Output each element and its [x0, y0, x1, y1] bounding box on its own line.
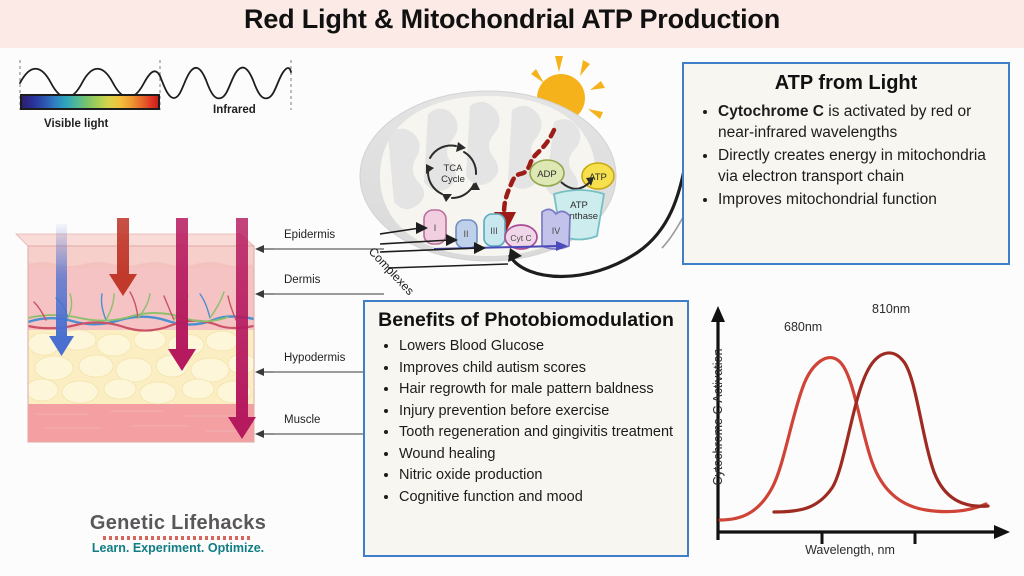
mitochondria-diagram: TCA Cycle ADP ATP ATP synthase: [358, 56, 688, 301]
logo-tagline: Learn. Experiment. Optimize.: [78, 541, 278, 555]
atp-panel-bullet-1: Directly creates energy in mitochondria …: [718, 145, 998, 187]
benefits-list: Lowers Blood Glucose Improves child auti…: [365, 336, 687, 507]
chart-series-680nm: [720, 358, 986, 520]
cytochrome-activation-chart: 680nm 810nm Wavelength, nm Cytochrome C …: [700, 292, 1024, 576]
logo-name: Genetic Lifehacks: [78, 512, 278, 535]
skin-layer-label-epidermis: Epidermis: [284, 229, 335, 241]
infrared-label: Infrared: [213, 104, 256, 116]
visible-spectrum-bar: [20, 94, 160, 110]
skin-layer-label-muscle: Muscle: [284, 414, 320, 426]
benefits-list-item: Wound healing: [399, 444, 677, 465]
atp-bullet-0-bold: Cytochrome C: [718, 103, 824, 120]
skin-cross-section-diagram: [14, 218, 274, 448]
benefits-list-item: Cognitive function and mood: [399, 487, 677, 508]
benefits-list-item: Improves child autism scores: [399, 358, 677, 379]
svg-text:IV: IV: [552, 226, 561, 236]
cytochrome-c: Cyt C: [505, 225, 537, 249]
chart-y-axis-arrow: [711, 306, 725, 322]
svg-text:II: II: [463, 229, 468, 239]
page-title: Red Light & Mitochondrial ATP Production: [0, 4, 1024, 35]
adp-molecule: ADP: [530, 160, 564, 186]
benefits-panel: Benefits of Photobiomodulation Lowers Bl…: [363, 300, 689, 557]
svg-text:I: I: [434, 223, 437, 233]
visible-light-label: Visible light: [44, 118, 108, 130]
skin-layer-label-hypodermis: Hypodermis: [284, 352, 345, 364]
complex-III: III: [484, 214, 505, 246]
benefits-list-item: Lowers Blood Glucose: [399, 336, 677, 357]
atp-panel-title: ATP from Light: [684, 72, 1008, 95]
skin-layer-label-dermis: Dermis: [284, 274, 320, 286]
benefits-list-item: Tooth regeneration and gingivitis treatm…: [399, 422, 677, 443]
light-spectrum-diagram: Visible light Infrared: [8, 58, 298, 138]
chart-annotation-680nm: 680nm: [784, 320, 822, 334]
benefits-list-item: Nitric oxide production: [399, 465, 677, 486]
infographic-root: Red Light & Mitochondrial ATP Production…: [0, 0, 1024, 576]
tca-label-line2: Cycle: [441, 174, 465, 185]
complexes-label: Complexes: [366, 244, 417, 297]
benefits-list-item: Hair regrowth for male pattern baldness: [399, 379, 677, 400]
brand-logo: Genetic Lifehacks Learn. Experiment. Opt…: [78, 512, 278, 555]
chart-x-axis-arrow: [994, 525, 1010, 539]
atp-panel-bullet-2: Improves mitochondrial function: [718, 189, 998, 210]
chart-annotation-810nm: 810nm: [872, 302, 910, 316]
atp-from-light-panel: ATP from Light Cytochrome C is activated…: [682, 62, 1010, 265]
atp-panel-bullet-0: Cytochrome C is activated by red or near…: [718, 101, 998, 143]
chart-y-axis-label: Cytochrome C Activation: [711, 327, 725, 507]
atp-panel-list: Cytochrome C is activated by red or near…: [684, 101, 1008, 210]
svg-text:Cyt C: Cyt C: [510, 233, 531, 243]
chart-plot-area: [700, 292, 1024, 552]
benefits-list-item: Injury prevention before exercise: [399, 401, 677, 422]
chart-x-axis-label: Wavelength, nm: [700, 543, 1000, 557]
svg-text:ADP: ADP: [537, 169, 557, 180]
complex-I: I: [424, 210, 446, 244]
svg-text:ATP: ATP: [570, 200, 588, 211]
tca-label-line1: TCA: [444, 163, 464, 174]
complex-II: II: [456, 220, 477, 248]
benefits-panel-title: Benefits of Photobiomodulation: [365, 309, 687, 332]
logo-divider-dots: [103, 536, 253, 540]
svg-text:III: III: [490, 226, 498, 236]
